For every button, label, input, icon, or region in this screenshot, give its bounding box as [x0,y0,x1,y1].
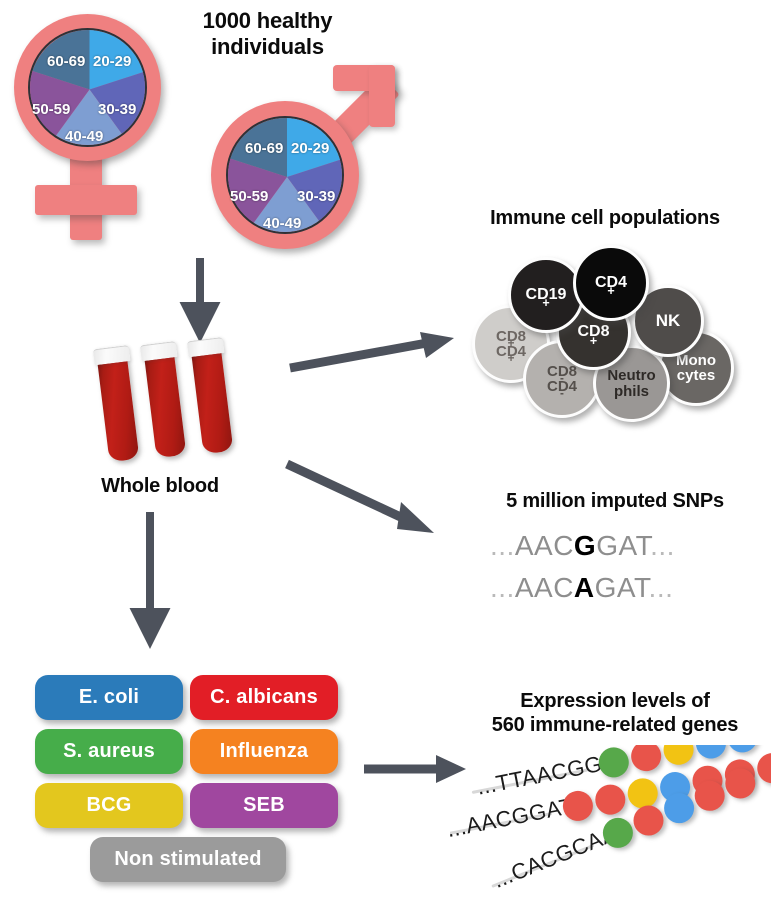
arrow-blood-to-immune-cells [288,330,458,376]
expression-strand-3-bead-2 [629,801,668,840]
snp-sequence-row-1: ...AACGGAT... [490,530,675,562]
blood-tubes[interactable] [100,336,270,466]
female-symbol[interactable]: 20-29 30-39 40-49 50-59 60-69 [8,10,183,240]
arrow-cohort-to-blood [180,258,220,336]
female-age-label-40-49: 40-49 [65,128,103,145]
blood-tube-2-body [144,353,186,458]
immune-cell-cd8-pos-cd4-pos-line1: CD8+ [496,329,526,344]
stimulation-seb[interactable]: SEB [190,783,338,828]
immune-cell-cd8-pos-cd4-pos-line2: CD4+ [496,344,526,359]
snp-sequence-row-2: ...AACAGAT... [490,572,673,604]
expression-heading-line2: 560 immune-related genes [460,714,770,738]
immune-cell-cd8-neg-cd4-neg-line1: CD8- [547,364,577,379]
snp-row-1-suffix: ... [650,530,675,561]
snp-row-2-right: GAT [595,572,649,603]
stimulation-panel[interactable]: E. coli C. albicans S. aureus Influenza … [30,675,350,885]
snp-row-2-variant: A [574,572,595,603]
male-age-label-60-69: 60-69 [245,140,283,157]
expression-strand-3-bead-5 [721,764,760,803]
immune-cells-group[interactable]: CD8+ CD4+ CD8- CD4- Mono cytes Neutro ph… [460,240,760,425]
male-age-label-30-39: 30-39 [297,188,335,205]
snp-sequences: ...AACGGAT... ...AACAGAT... [470,530,760,620]
male-age-label-40-49: 40-49 [263,215,301,232]
immune-cell-cd8-positive-line1: CD8+ [577,324,609,340]
snp-row-2-left: AAC [515,572,574,603]
expression-strand-1-bead-2 [629,745,664,774]
immune-cell-neutrophils-line1: Neutro [607,368,655,383]
stimulation-non-stimulated[interactable]: Non stimulated [90,837,286,882]
figure-canvas: 1000 healthy individuals 20-29 30-39 40-… [0,0,771,922]
cohort-heading: 1000 healthy individuals [170,8,365,60]
immune-cell-cd4-positive[interactable]: CD4+ [573,245,649,321]
immune-cell-monocytes-line2: cytes [676,368,716,383]
cohort-heading-line2: individuals [170,34,365,60]
snp-row-1-prefix: ... [490,530,515,561]
female-age-label-50-59: 50-59 [32,101,70,118]
immune-cell-cd4-positive-line1: CD4+ [595,275,627,291]
expression-heading-line1: Expression levels of [460,690,770,714]
immune-cell-nk-line1: NK [656,312,681,329]
stimulation-c-albicans[interactable]: C. albicans [190,675,338,720]
stimulation-influenza[interactable]: Influenza [190,729,338,774]
expression-strand-1-bead-4 [693,745,728,761]
stimulation-e-coli[interactable]: E. coli [35,675,183,720]
immune-cells-heading: Immune cell populations [455,207,755,231]
male-age-label-50-59: 50-59 [230,188,268,205]
snps-heading: 5 million imputed SNPs [470,490,760,514]
blood-tube-1-body [97,357,139,462]
arrow-blood-to-stimulation [130,512,170,642]
immune-cell-cd19-positive[interactable]: CD19+ [508,257,584,333]
stimulation-bcg[interactable]: BCG [35,783,183,828]
immune-cell-cd19-positive-line1: CD19+ [526,287,567,303]
immune-cell-monocytes-line1: Mono [676,353,716,368]
arrow-blood-to-snps [285,458,450,548]
female-age-label-30-39: 30-39 [98,101,136,118]
snp-row-1-left: AAC [515,530,574,561]
expression-strands[interactable]: ...TTAACGG ...AACGGAT ...CACGCAA [450,745,771,910]
expression-heading: Expression levels of 560 immune-related … [460,690,770,737]
stimulation-s-aureus[interactable]: S. aureus [35,729,183,774]
snp-row-2-suffix: ... [649,572,674,603]
whole-blood-label: Whole blood [70,475,250,499]
female-age-label-60-69: 60-69 [47,53,85,70]
immune-cell-cd8-neg-cd4-neg-line2: CD4- [547,379,577,394]
immune-cell-neutrophils-line2: phils [607,384,655,399]
expression-strand-1-bead-3 [661,745,696,767]
expression-strand-3-bead-4 [690,776,729,815]
female-age-label-20-29: 20-29 [93,53,131,70]
expression-strand-2-text: ...AACGGAT [450,793,576,843]
snp-row-1-variant: G [574,530,596,561]
blood-tube-3 [190,335,240,458]
snp-row-2-prefix: ... [490,572,515,603]
expression-strand-3-bead-3 [660,789,699,828]
female-symbol-cross [35,185,137,215]
blood-tube-1 [96,343,146,466]
blood-tube-2 [143,339,193,462]
cohort-heading-line1: 1000 healthy [170,8,365,34]
male-age-label-20-29: 20-29 [291,140,329,157]
snp-row-1-right: GAT [596,530,650,561]
blood-tube-3-body [191,349,233,454]
male-symbol-arrowhead-vertical [369,65,395,127]
male-symbol[interactable]: 20-29 30-39 40-49 50-59 60-69 [205,75,425,255]
